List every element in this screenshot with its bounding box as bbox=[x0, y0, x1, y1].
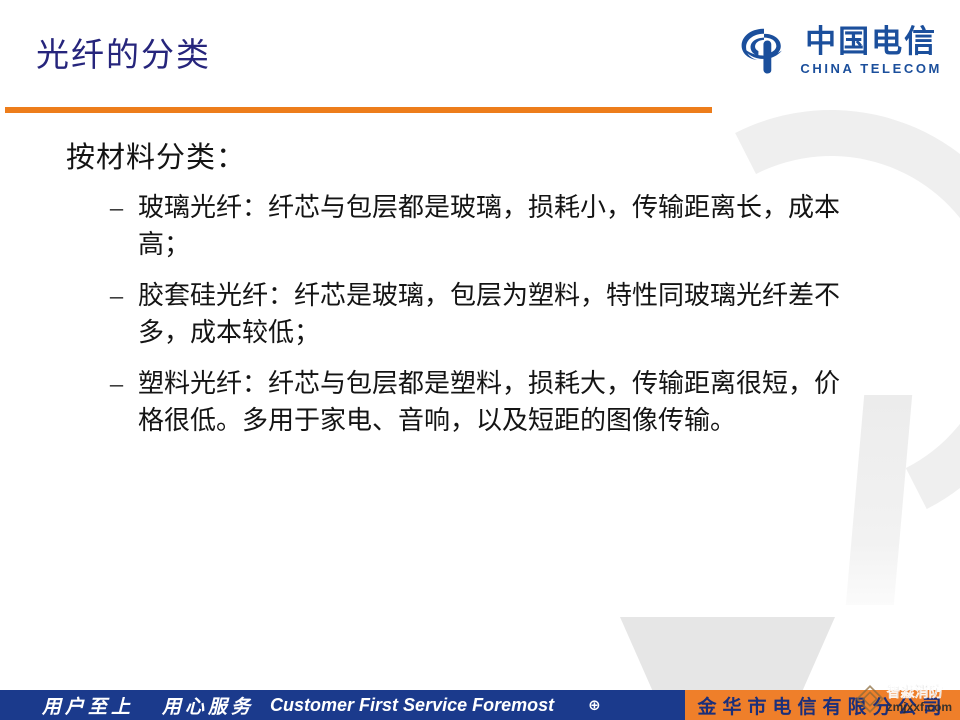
footer-slogan-chinese-primary: 用户至上 bbox=[42, 692, 134, 719]
background-trapezoid-shape bbox=[620, 617, 835, 695]
dash-bullet-icon: – bbox=[110, 278, 138, 315]
logo-wordmark: 中国电信 CHINA TELECOM bbox=[800, 26, 942, 75]
list-item: – 玻璃光纤：纤芯与包层都是玻璃，损耗小，传输距离长，成本高； bbox=[110, 190, 845, 264]
title-underline-rule bbox=[5, 107, 712, 113]
watermark-text: 智淼消防 zmjxxf.com bbox=[887, 685, 952, 713]
footer-slogan-english: Customer First Service Foremost bbox=[270, 695, 554, 716]
slide-canvas: 光纤的分类 中国电信 CHINA TELECOM 按材料分类： – 玻璃光纤：纤… bbox=[0, 0, 960, 720]
page-title: 光纤的分类 bbox=[36, 28, 211, 76]
list-item: – 塑料光纤：纤芯与包层都是塑料，损耗大，传输距离很短，价格很低。多用于家电、音… bbox=[110, 366, 845, 440]
bullet-list: – 玻璃光纤：纤芯与包层都是玻璃，损耗小，传输距离长，成本高； – 胶套硅光纤：… bbox=[110, 190, 845, 439]
logo-chinese-text: 中国电信 bbox=[805, 26, 937, 57]
footer-slogan-chinese-secondary: 用心服务 bbox=[162, 692, 254, 719]
footer-ornament-icon: ⊕ bbox=[588, 696, 601, 714]
site-watermark: 智淼消防 zmjxxf.com bbox=[855, 684, 952, 714]
logo-english-text: CHINA TELECOM bbox=[800, 62, 942, 75]
list-item: – 胶套硅光纤：纤芯是玻璃，包层为塑料，特性同玻璃光纤差不多，成本较低； bbox=[110, 278, 845, 352]
slide-body: 按材料分类： – 玻璃光纤：纤芯与包层都是玻璃，损耗小，传输距离长，成本高； –… bbox=[0, 140, 960, 454]
china-telecom-swirl-icon bbox=[736, 22, 792, 78]
dash-bullet-icon: – bbox=[110, 366, 138, 403]
watermark-diamond-icon bbox=[855, 684, 885, 714]
dash-bullet-icon: – bbox=[110, 190, 138, 227]
footer-slogan-bar: 用户至上 用心服务 Customer First Service Foremos… bbox=[0, 690, 685, 720]
slide-footer: 用户至上 用心服务 Customer First Service Foremos… bbox=[0, 690, 960, 720]
list-item-text: 胶套硅光纤：纤芯是玻璃，包层为塑料，特性同玻璃光纤差不多，成本较低； bbox=[138, 278, 845, 352]
section-heading: 按材料分类： bbox=[66, 140, 960, 176]
watermark-brand: 智淼消防 bbox=[887, 685, 952, 699]
list-item-text: 玻璃光纤：纤芯与包层都是玻璃，损耗小，传输距离长，成本高； bbox=[138, 190, 845, 264]
china-telecom-logo: 中国电信 CHINA TELECOM bbox=[736, 22, 942, 78]
list-item-text: 塑料光纤：纤芯与包层都是塑料，损耗大，传输距离很短，价格很低。多用于家电、音响，… bbox=[138, 366, 845, 440]
watermark-url: zmjxxf.com bbox=[887, 701, 952, 713]
